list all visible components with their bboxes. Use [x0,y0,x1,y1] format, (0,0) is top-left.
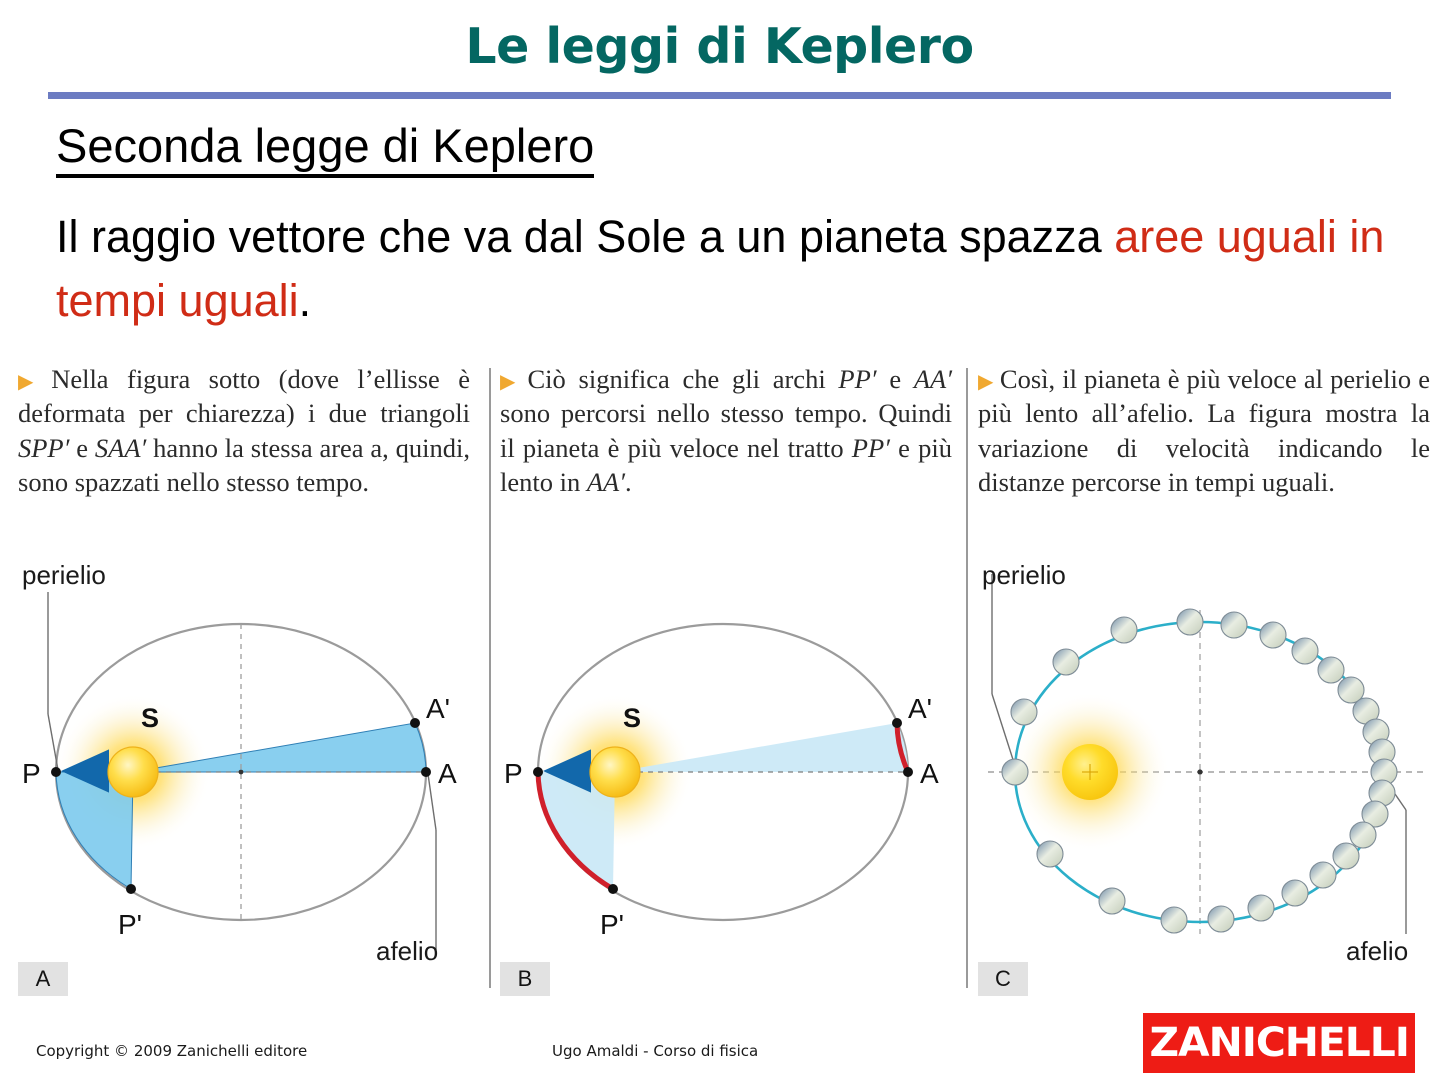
point-p [533,767,543,777]
panel-b-figure: S P P' A A' [500,562,952,990]
caption-text-run: . [625,467,632,497]
planet-marker [1292,638,1318,664]
planet-marker [1037,841,1063,867]
planet-marker [1177,609,1203,635]
panel-a-caption-text: Nella figura sotto (dove l’ellisse è def… [18,364,470,497]
point-p-prime [608,884,618,894]
perihelion-leader-slant [48,714,58,770]
planet-marker [1350,822,1376,848]
caption-italic-run: AA′ [914,364,952,394]
panel-divider-1 [489,368,491,988]
label-perielio: perielio [22,562,106,590]
planet-marker [1111,617,1137,643]
section-subheading: Seconda legge di Keplero [56,118,594,173]
label-perielio: perielio [982,562,1066,590]
planet-marker [1221,612,1247,638]
planet-marker [1282,880,1308,906]
lead-statement: Il raggio vettore che va dal Sole a un p… [56,205,1386,333]
panel-c-caption-text: Così, il pianeta è più veloce al perieli… [978,364,1430,497]
panel-divider-2 [966,368,968,988]
planet-marker [1333,843,1359,869]
panel-a-caption: ▶Nella figura sotto (dove l’ellisse è de… [18,362,470,500]
planet-marker [1002,759,1028,785]
label-afelio: afelio [1346,936,1408,966]
panel-tag-b: B [500,962,550,996]
aphelion-leader-slant [428,774,436,830]
bullet-triangle-icon: ▶ [18,371,45,393]
section-subheading-text: Seconda legge di Keplero [56,119,594,178]
ellipse-center-dot [239,770,244,775]
panel-c-svg: perielio afelio [978,562,1430,990]
copyright-text: Copyright © 2009 Zanichelli editore [36,1042,307,1060]
sun-body [590,747,640,797]
planet-marker [1310,862,1336,888]
label-sun-s: S [141,703,159,733]
slide-root: Le leggi di Keplero Seconda legge di Kep… [0,0,1439,1080]
caption-text-run: Ciò significa che gli archi [528,364,839,394]
planet-marker [1248,895,1274,921]
orbit-center-dot [1197,769,1202,774]
caption-text-run: e [69,433,94,463]
label-p: P [22,758,41,789]
planet-marker [1208,906,1234,932]
label-a-prime: A' [426,693,450,724]
planet-marker [1099,888,1125,914]
planet-marker [1161,907,1187,933]
panel-b-caption: ▶Ciò significa che gli archi PP′ e AA′ s… [500,362,952,500]
point-a [421,767,431,777]
planet-marker [1318,657,1344,683]
caption-italic-run: SAA′ [95,433,146,463]
panel-a: ▶Nella figura sotto (dove l’ellisse è de… [18,362,470,500]
caption-text-run: e [877,364,914,394]
lead-text-part2: . [299,275,312,326]
page-title: Le leggi di Keplero [0,18,1439,75]
point-p-prime [126,884,136,894]
caption-italic-run: SPP′ [18,433,69,463]
panel-a-svg: perielio afelio S P P' A A' [18,562,470,990]
panel-tag-a: A [18,962,68,996]
title-divider-rule [48,92,1391,99]
caption-italic-run: PP′ [838,364,876,394]
caption-text-run: Nella figura sotto (dove l’ellisse è def… [18,364,470,428]
label-afelio: afelio [376,936,438,966]
planet-marker [1053,649,1079,675]
panel-b-caption-text: Ciò significa che gli archi PP′ e AA′ so… [500,364,952,497]
caption-italic-run: PP′ [852,433,890,463]
panel-b: ▶Ciò significa che gli archi PP′ e AA′ s… [500,362,952,500]
planet-marker [1011,699,1037,725]
caption-italic-run: AA′ [587,467,625,497]
figure-block: ▶Nella figura sotto (dove l’ellisse è de… [0,362,1439,994]
label-p-prime: P' [600,909,624,940]
lead-text-part1: Il raggio vettore che va dal Sole a un p… [56,211,1114,262]
label-p: P [504,758,523,789]
panel-c-figure: perielio afelio [978,562,1430,990]
bullet-triangle-icon: ▶ [978,371,994,393]
credit-text: Ugo Amaldi - Corso di fisica [552,1042,758,1060]
label-a: A [920,758,939,789]
label-a: A [438,758,457,789]
planet-marker [1260,622,1286,648]
panel-b-svg: S P P' A A' [500,562,952,990]
bullet-triangle-icon: ▶ [500,371,522,393]
label-p-prime: P' [118,909,142,940]
point-p [51,767,61,777]
label-a-prime: A' [908,693,932,724]
sun-body [108,747,158,797]
point-a-prime [892,718,902,728]
point-a [903,767,913,777]
panel-tag-c: C [978,962,1028,996]
panel-a-figure: perielio afelio S P P' A A' [18,562,470,990]
panel-c: ▶Così, il pianeta è più veloce al periel… [978,362,1430,500]
zanichelli-logo: ZANICHELLI [1143,1013,1415,1073]
point-a-prime [410,718,420,728]
panel-c-caption: ▶Così, il pianeta è più veloce al periel… [978,362,1430,500]
label-sun-s: S [623,703,641,733]
caption-text-run: Così, il pianeta è più veloce al perieli… [978,364,1430,497]
zanichelli-logo-text: ZANICHELLI [1149,1020,1408,1066]
